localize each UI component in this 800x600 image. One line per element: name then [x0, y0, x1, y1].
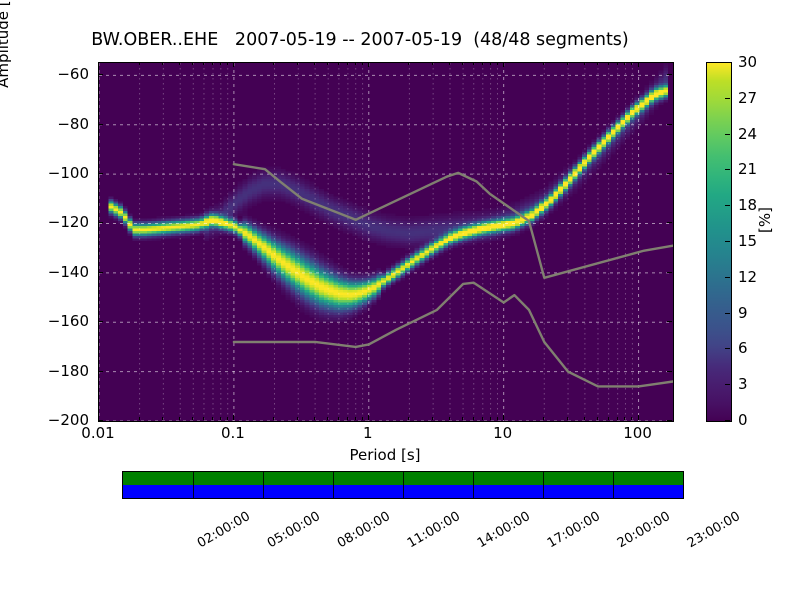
y-tick-label: −60	[57, 65, 89, 83]
x-tick-label: 0.01	[81, 424, 114, 442]
colorbar-tick-mark	[725, 348, 730, 349]
y-axis-label-prefix: Amplitude [	[0, 0, 12, 88]
x-tick-label: 100	[623, 424, 652, 442]
timeline-division	[613, 472, 614, 498]
x-minor-tick	[327, 62, 328, 65]
colorbar-tick-label: 12	[738, 268, 757, 286]
colorbar-tick-label: 3	[738, 375, 748, 393]
x-minor-tick	[338, 417, 339, 420]
colorbar-tick-label: 9	[738, 304, 748, 322]
x-minor-tick	[355, 417, 356, 420]
x-minor-tick	[203, 417, 204, 420]
x-minor-tick	[220, 417, 221, 420]
x-tick-label: 10	[493, 424, 512, 442]
x-tick-mark	[98, 62, 99, 67]
colorbar-tick-mark	[725, 384, 730, 385]
timeline-tick-label: 02:00:00	[194, 509, 252, 551]
x-minor-tick	[179, 417, 180, 420]
x-tick-label: 0.1	[221, 424, 245, 442]
x-minor-tick	[212, 417, 213, 420]
x-minor-tick	[543, 62, 544, 65]
x-minor-tick	[449, 417, 450, 420]
x-minor-tick	[347, 417, 348, 420]
timeline-tick-label: 05:00:00	[264, 509, 322, 551]
x-minor-tick	[408, 62, 409, 65]
x-minor-tick	[482, 417, 483, 420]
x-axis-label: Period [s]	[98, 446, 672, 464]
y-tick-label: −160	[48, 312, 89, 330]
x-minor-tick	[162, 417, 163, 420]
timeline-division	[333, 472, 334, 498]
colorbar-tick-mark	[725, 134, 730, 135]
colorbar-tick-mark	[725, 420, 730, 421]
x-minor-tick	[192, 62, 193, 65]
y-tick-mark	[98, 124, 103, 125]
x-minor-tick	[462, 62, 463, 65]
y-tick-label: −80	[57, 115, 89, 133]
colorbar-tick-mark	[725, 169, 730, 170]
x-minor-tick	[139, 62, 140, 65]
y-tick-mark	[667, 321, 672, 322]
x-minor-tick	[347, 62, 348, 65]
y-tick-label: −140	[48, 263, 89, 281]
x-minor-tick	[624, 417, 625, 420]
x-minor-tick	[473, 62, 474, 65]
x-tick-mark	[368, 415, 369, 420]
y-tick-mark	[667, 272, 672, 273]
x-tick-mark	[638, 62, 639, 67]
x-minor-tick	[212, 62, 213, 65]
y-tick-label: −180	[48, 362, 89, 380]
x-minor-tick	[273, 62, 274, 65]
timeline-division	[403, 472, 404, 498]
x-minor-tick	[338, 62, 339, 65]
x-minor-tick	[139, 417, 140, 420]
colorbar-tick-mark	[725, 98, 730, 99]
y-tick-mark	[667, 74, 672, 75]
y-tick-mark	[98, 371, 103, 372]
timeline-tick-label: 20:00:00	[614, 509, 672, 551]
x-tick-mark	[98, 415, 99, 420]
timeline-division	[473, 472, 474, 498]
x-minor-tick	[543, 417, 544, 420]
colorbar-tick-label: 21	[738, 160, 757, 178]
timeline-tick-label: 23:00:00	[684, 509, 742, 551]
colorbar-tick-mark	[725, 205, 730, 206]
x-minor-tick	[567, 417, 568, 420]
x-minor-tick	[597, 62, 598, 65]
x-minor-tick	[297, 417, 298, 420]
y-tick-label: −100	[48, 164, 89, 182]
x-minor-tick	[327, 417, 328, 420]
x-tick-mark	[503, 62, 504, 67]
x-minor-tick	[432, 417, 433, 420]
y-tick-mark	[98, 74, 103, 75]
x-minor-tick	[449, 62, 450, 65]
y-tick-mark	[98, 173, 103, 174]
x-minor-tick	[497, 62, 498, 65]
x-minor-tick	[608, 417, 609, 420]
x-minor-tick	[203, 62, 204, 65]
x-minor-tick	[624, 62, 625, 65]
x-minor-tick	[490, 417, 491, 420]
x-minor-tick	[497, 417, 498, 420]
x-minor-tick	[192, 417, 193, 420]
x-minor-tick	[567, 62, 568, 65]
timeline-division	[263, 472, 264, 498]
x-minor-tick	[597, 417, 598, 420]
x-minor-tick	[462, 417, 463, 420]
timeline-tick-label: 08:00:00	[334, 509, 392, 551]
timeline-tick-label: 14:00:00	[474, 509, 532, 551]
x-minor-tick	[355, 62, 356, 65]
y-tick-mark	[667, 173, 672, 174]
x-tick-label: 1	[363, 424, 373, 442]
x-minor-tick	[631, 417, 632, 420]
x-minor-tick	[584, 417, 585, 420]
x-minor-tick	[362, 417, 363, 420]
y-axis-label: Amplitude [m2/s4/Hz] [dB]	[0, 0, 12, 120]
x-tick-mark	[638, 415, 639, 420]
colorbar	[706, 62, 732, 422]
x-minor-tick	[314, 417, 315, 420]
x-minor-tick	[631, 62, 632, 65]
y-tick-mark	[98, 321, 103, 322]
x-minor-tick	[584, 62, 585, 65]
timeline-tick-label: 17:00:00	[544, 509, 602, 551]
x-minor-tick	[608, 62, 609, 65]
x-minor-tick	[220, 62, 221, 65]
x-minor-tick	[490, 62, 491, 65]
colorbar-label: [%]	[756, 180, 774, 260]
x-tick-mark	[368, 62, 369, 67]
x-minor-tick	[314, 62, 315, 65]
y-tick-label: −120	[48, 213, 89, 231]
timeline-division	[543, 472, 544, 498]
y-tick-mark	[667, 222, 672, 223]
y-tick-mark	[667, 124, 672, 125]
ppsd-heatmap	[99, 63, 673, 421]
plot-area	[98, 62, 674, 422]
colorbar-tick-label: 15	[738, 232, 757, 250]
data-coverage-timeline[interactable]	[122, 471, 684, 499]
x-minor-tick	[162, 62, 163, 65]
x-tick-mark	[233, 415, 234, 420]
x-minor-tick	[617, 62, 618, 65]
timeline-division	[193, 472, 194, 498]
x-minor-tick	[473, 417, 474, 420]
x-minor-tick	[617, 417, 618, 420]
timeline-tick-label: 11:00:00	[404, 509, 462, 551]
x-minor-tick	[179, 62, 180, 65]
x-minor-tick	[408, 417, 409, 420]
colorbar-tick-label: 18	[738, 196, 757, 214]
y-tick-mark	[667, 371, 672, 372]
colorbar-tick-label: 27	[738, 89, 757, 107]
y-tick-mark	[667, 420, 672, 421]
y-tick-mark	[98, 222, 103, 223]
ppsd-figure: BW.OBER..EHE 2007-05-19 -- 2007-05-19 (4…	[0, 0, 800, 600]
x-minor-tick	[297, 62, 298, 65]
x-tick-mark	[233, 62, 234, 67]
colorbar-tick-mark	[725, 313, 730, 314]
colorbar-tick-label: 6	[738, 339, 748, 357]
colorbar-tick-label: 24	[738, 125, 757, 143]
x-minor-tick	[227, 62, 228, 65]
colorbar-tick-label: 30	[738, 53, 757, 71]
colorbar-tick-label: 0	[738, 411, 748, 429]
x-minor-tick	[227, 417, 228, 420]
colorbar-tick-mark	[725, 62, 730, 63]
x-tick-mark	[503, 415, 504, 420]
x-minor-tick	[362, 62, 363, 65]
colorbar-tick-mark	[725, 277, 730, 278]
x-minor-tick	[432, 62, 433, 65]
x-minor-tick	[273, 417, 274, 420]
x-minor-tick	[482, 62, 483, 65]
page-title: BW.OBER..EHE 2007-05-19 -- 2007-05-19 (4…	[0, 30, 720, 50]
y-tick-mark	[98, 272, 103, 273]
colorbar-tick-mark	[725, 241, 730, 242]
y-tick-mark	[98, 420, 103, 421]
